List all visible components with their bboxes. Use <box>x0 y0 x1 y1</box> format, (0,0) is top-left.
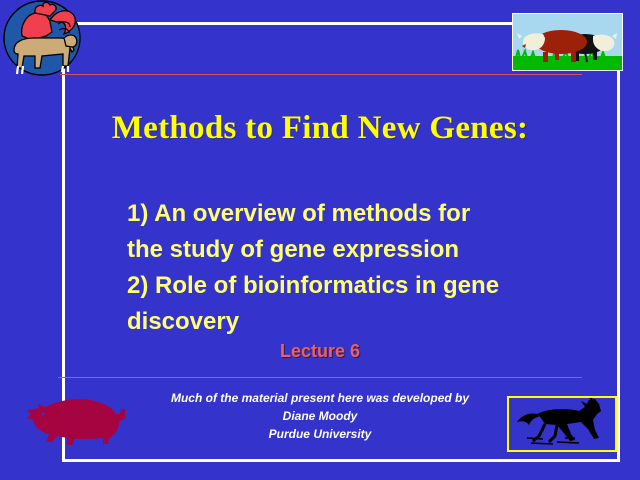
slide-body-text: 1) An overview of methods for the study … <box>127 196 547 340</box>
body-line-1: 1) An overview of methods for <box>127 196 547 232</box>
slide-title: Methods to Find New Genes: <box>0 108 640 148</box>
lecture-label: Lecture 6 <box>0 341 640 362</box>
pig-silhouette <box>24 392 130 450</box>
running-horse-silhouette <box>507 396 617 452</box>
footer-divider-rule <box>58 377 582 378</box>
header-divider-rule <box>60 74 582 75</box>
body-line-3: 2) Role of bioinformatics in gene <box>127 268 547 304</box>
body-line-4: discovery <box>127 304 547 340</box>
animal-sciences-logo <box>2 0 84 80</box>
cattle-photo <box>512 13 623 71</box>
body-line-2: the study of gene expression <box>127 232 547 268</box>
presentation-slide: Methods to Find New Genes: 1) An overvie… <box>0 0 640 480</box>
